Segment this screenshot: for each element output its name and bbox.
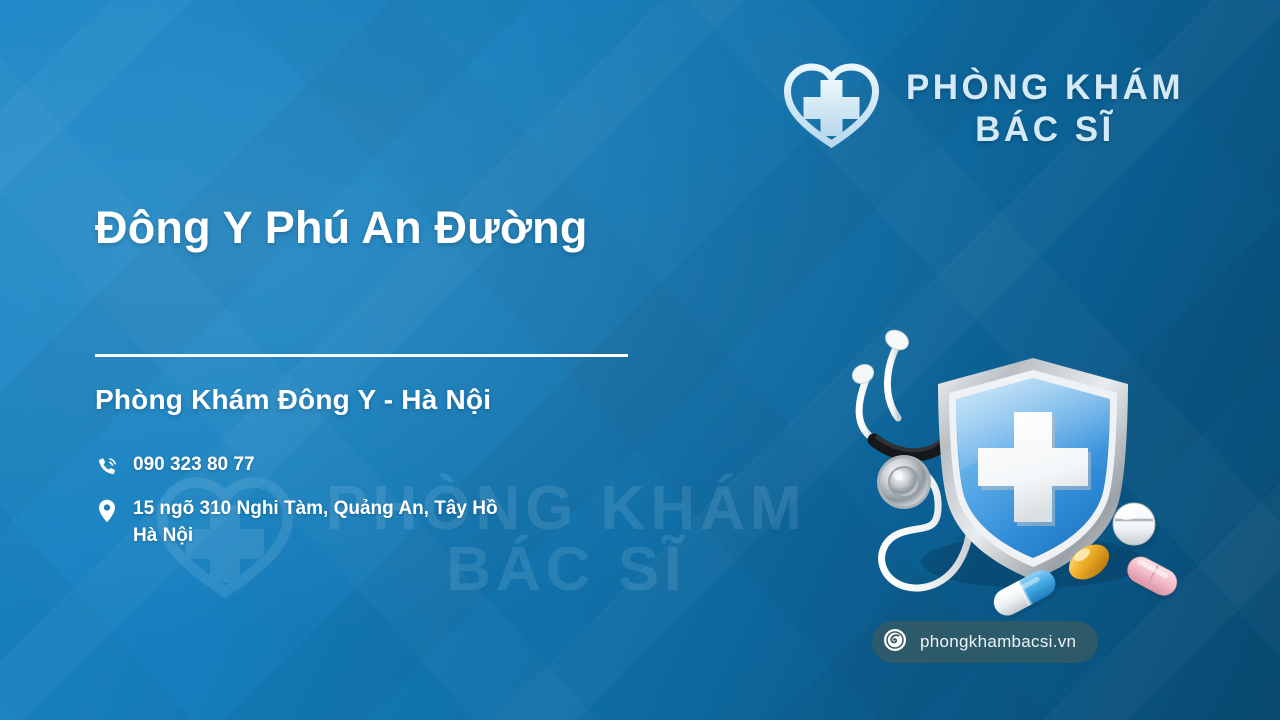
brand-line-2: BÁC SĨ: [975, 112, 1115, 147]
subtitle: Phòng Khám Đông Y - Hà Nội: [95, 384, 491, 416]
address-line-2: Hà Nội: [133, 525, 193, 546]
medical-illustration: [828, 322, 1198, 622]
brand-logo: PHÒNG KHÁM BÁC SĨ: [779, 56, 1184, 161]
globe-swirl-icon: [883, 628, 907, 657]
address-text: 15 ngõ 310 Nghi Tàm, Quảng An, Tây Hồ Hà…: [133, 496, 498, 550]
page-title: Đông Y Phú An Đường: [95, 202, 588, 254]
banner-canvas: PHÒNG KHÁM BÁC SĨ PHÒNG KHÁM BÁC SĨ Đông: [0, 0, 1280, 720]
divider: [95, 354, 628, 357]
brand-name: PHÒNG KHÁM BÁC SĨ: [906, 70, 1184, 147]
address-line-1: 15 ngõ 310 Nghi Tàm, Quảng An, Tây Hồ: [133, 498, 498, 519]
address-row[interactable]: 15 ngõ 310 Nghi Tàm, Quảng An, Tây Hồ Hà…: [95, 496, 715, 550]
website-badge[interactable]: phongkhambacsi.vn: [872, 621, 1098, 663]
logo-heart-cross-icon: [779, 56, 884, 161]
website-url: phongkhambacsi.vn: [920, 632, 1076, 652]
phone-row[interactable]: 090 323 80 77: [95, 452, 715, 480]
phone-number: 090 323 80 77: [133, 452, 255, 479]
contact-block: 090 323 80 77 15 ngõ 310 Nghi Tàm, Quảng…: [95, 452, 715, 566]
brand-line-1: PHÒNG KHÁM: [906, 70, 1184, 105]
location-pin-icon: [95, 496, 119, 524]
phone-call-icon: [95, 452, 119, 480]
